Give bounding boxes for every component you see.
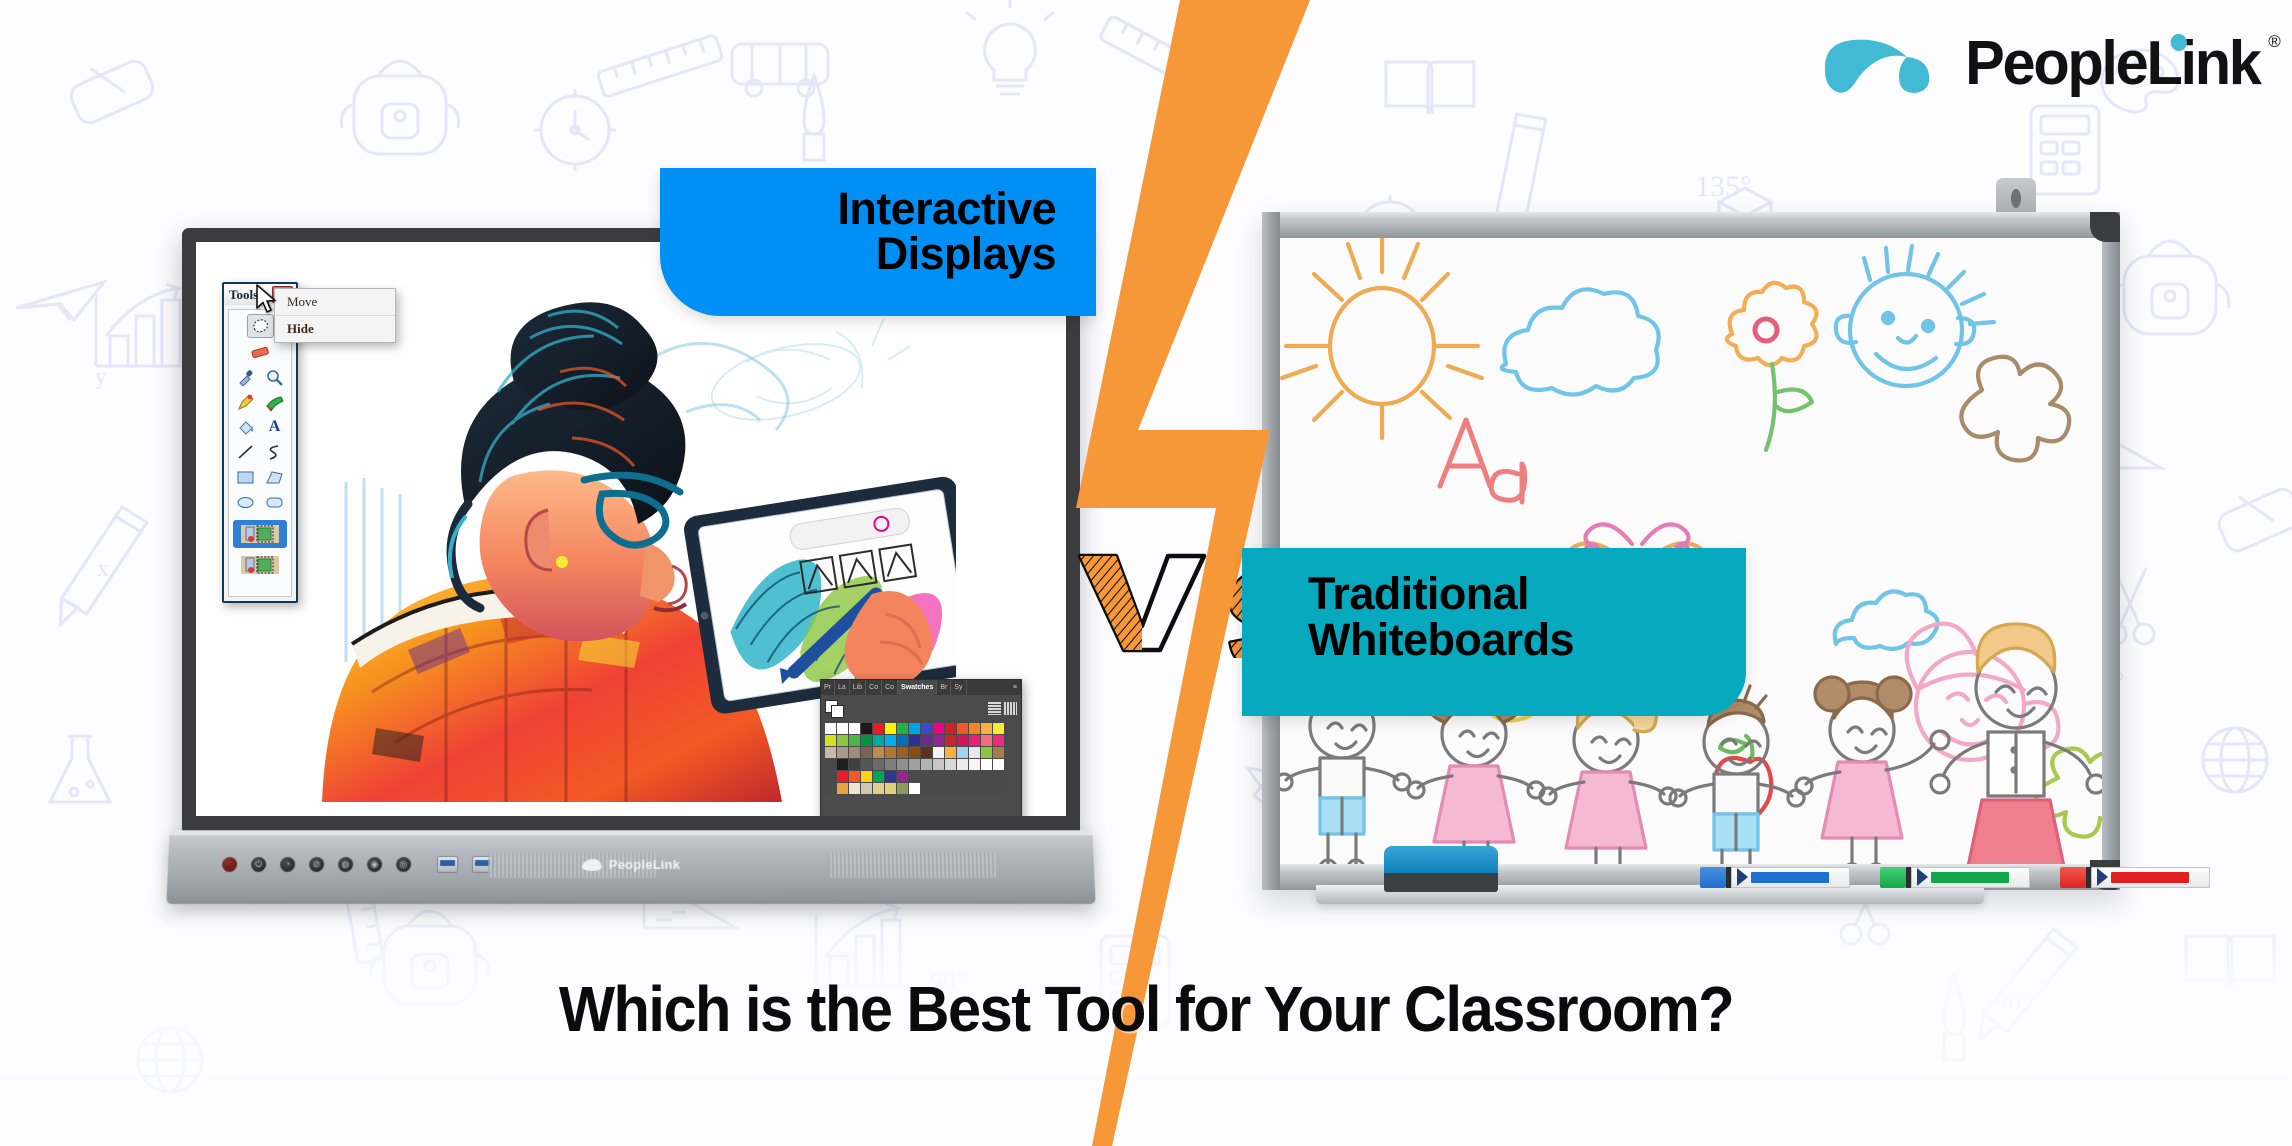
swatch-row xyxy=(825,723,1017,734)
color-swatch[interactable] xyxy=(945,747,956,758)
color-swatch[interactable] xyxy=(825,783,836,794)
color-swatch[interactable] xyxy=(933,759,944,770)
color-swatch[interactable] xyxy=(957,771,968,782)
tool-row xyxy=(229,466,291,488)
banner-line-2: Whiteboards xyxy=(1308,617,1746,663)
tool-row xyxy=(229,520,291,548)
tool-row xyxy=(229,491,291,513)
color-swatch[interactable] xyxy=(861,723,872,734)
display-screen[interactable]: Pr La Lib Co Co Swatches Br Sy ≡ xyxy=(196,242,1066,816)
doodle-cloud xyxy=(1502,289,1659,394)
color-swatch[interactable] xyxy=(969,723,980,734)
color-swatch[interactable] xyxy=(861,735,872,746)
tool-row xyxy=(229,341,291,363)
color-swatch[interactable] xyxy=(837,747,848,758)
display-control-bezel: ⏻ ◔ ⊘ ◍ ◉ ◎ PeopleLink xyxy=(166,830,1095,904)
color-swatch[interactable] xyxy=(837,735,848,746)
context-menu-item-hide[interactable]: Hide xyxy=(275,316,395,342)
color-swatch[interactable] xyxy=(945,723,956,734)
color-swatch[interactable] xyxy=(981,723,992,734)
tool-row: A xyxy=(229,416,291,438)
color-swatch[interactable] xyxy=(885,747,896,758)
bezel-highlight xyxy=(169,830,1092,835)
marker-barrel xyxy=(2091,867,2210,888)
list-view-icon[interactable] xyxy=(988,702,1001,715)
marker-nib-icon xyxy=(1917,868,1928,886)
marker-nib-icon xyxy=(2097,868,2108,886)
doodle-cloud xyxy=(1835,591,1938,648)
color-swatch[interactable] xyxy=(933,723,944,734)
marker-ink-band xyxy=(1931,872,2009,883)
svg-text:135°: 135° xyxy=(1695,170,1752,203)
bring-to-front-icon[interactable] xyxy=(233,520,287,548)
color-swatch[interactable] xyxy=(957,747,968,758)
color-swatch[interactable] xyxy=(933,747,944,758)
swatches-panel-tabs[interactable]: Pr La Lib Co Co Swatches Br Sy ≡ xyxy=(821,680,1021,695)
tool-row xyxy=(229,366,291,388)
color-swatch[interactable] xyxy=(885,735,896,746)
color-swatch[interactable] xyxy=(945,771,956,782)
banner-line-1: Traditional xyxy=(1308,571,1746,617)
color-swatch[interactable] xyxy=(825,735,836,746)
tools-context-menu[interactable]: Move Hide xyxy=(274,288,396,343)
color-swatch[interactable] xyxy=(849,747,860,758)
color-swatch[interactable] xyxy=(933,771,944,782)
swatch-row xyxy=(825,735,1017,746)
volume-down-button[interactable]: ◍ xyxy=(338,857,353,872)
eraser-icon[interactable] xyxy=(248,341,273,363)
color-swatch[interactable] xyxy=(861,747,872,758)
color-swatch[interactable] xyxy=(969,735,980,746)
color-swatch[interactable] xyxy=(873,771,884,782)
color-swatch[interactable] xyxy=(945,759,956,770)
tool-row xyxy=(229,551,291,579)
panel-tab-colorguide[interactable]: Co xyxy=(882,680,898,695)
color-swatch[interactable] xyxy=(885,723,896,734)
marker-cap xyxy=(1700,867,1726,888)
color-swatch[interactable] xyxy=(921,759,932,770)
color-swatch[interactable] xyxy=(897,747,908,758)
rectangle-icon[interactable] xyxy=(233,466,258,488)
color-swatch[interactable] xyxy=(897,735,908,746)
tool-row xyxy=(229,391,291,413)
peoplelink-swoosh-icon xyxy=(1819,31,1941,97)
color-swatch[interactable] xyxy=(849,735,860,746)
swatches-panel-toolbar xyxy=(821,695,1021,721)
tools-palette-body[interactable]: A xyxy=(228,309,292,597)
color-swatch[interactable] xyxy=(909,735,920,746)
right-speaker-grille xyxy=(828,852,997,878)
doodle-boy-face-blue xyxy=(1836,246,1994,386)
panel-tab-layers[interactable]: La xyxy=(835,680,850,695)
panel-tab-swatches[interactable]: Swatches xyxy=(898,680,937,695)
traditional-whiteboards-banner: Traditional Whiteboards xyxy=(1242,548,1746,716)
color-swatch[interactable] xyxy=(825,759,836,770)
color-swatch[interactable] xyxy=(969,783,980,794)
display-brand-logo: PeopleLink xyxy=(582,857,680,872)
panel-tab-properties[interactable]: Pr xyxy=(821,680,835,695)
svg-text:y: y xyxy=(95,364,107,390)
panel-tab-symbols[interactable]: Sy xyxy=(951,680,966,695)
text-tool-icon[interactable]: A xyxy=(262,416,287,438)
color-swatch[interactable] xyxy=(921,723,932,734)
color-swatch[interactable] xyxy=(825,723,836,734)
line-icon[interactable] xyxy=(233,441,258,463)
volume-up-button[interactable]: ◉ xyxy=(367,857,382,872)
color-swatch[interactable] xyxy=(873,735,884,746)
usb-port[interactable] xyxy=(437,856,458,873)
grid-view-icon[interactable] xyxy=(1004,702,1017,715)
color-swatch[interactable] xyxy=(885,771,896,782)
color-swatch[interactable] xyxy=(969,759,980,770)
color-swatch[interactable] xyxy=(909,759,920,770)
color-swatch[interactable] xyxy=(957,783,968,794)
lasso-select-icon[interactable] xyxy=(247,314,274,338)
color-swatch[interactable] xyxy=(873,723,884,734)
color-swatch[interactable] xyxy=(885,783,896,794)
color-swatch[interactable] xyxy=(993,771,1004,782)
mute-button[interactable]: ⊘ xyxy=(309,857,324,872)
color-swatch[interactable] xyxy=(897,771,908,782)
eraser-body xyxy=(1384,846,1498,874)
page-headline: Which is the Best Tool for Your Classroo… xyxy=(80,972,2212,1046)
color-swatch[interactable] xyxy=(993,759,1004,770)
color-swatch[interactable] xyxy=(921,783,932,794)
doodle-flower-brown xyxy=(1961,357,2069,461)
color-swatch[interactable] xyxy=(849,783,860,794)
color-swatch[interactable] xyxy=(837,723,848,734)
marker-nib-icon xyxy=(1737,868,1748,886)
whiteboard-top-rail xyxy=(1262,212,2120,238)
logo-i-dot xyxy=(2171,34,2187,51)
color-swatch[interactable] xyxy=(969,771,980,782)
interactive-display-device: Pr La Lib Co Co Swatches Br Sy ≡ xyxy=(182,228,1080,878)
paint-bucket-icon[interactable] xyxy=(233,416,258,438)
swatch-row xyxy=(825,771,1017,782)
color-swatch[interactable] xyxy=(957,723,968,734)
whiteboard-corner-cap xyxy=(2090,212,2120,242)
whiteboard-right-rail xyxy=(2102,212,2120,890)
marker-ink-band xyxy=(2111,872,2189,883)
color-swatch[interactable] xyxy=(993,723,1004,734)
send-to-back-icon[interactable] xyxy=(233,551,287,579)
tool-row xyxy=(229,441,291,463)
color-swatch[interactable] xyxy=(897,723,908,734)
doodle-flower-orange xyxy=(1727,283,1817,450)
color-swatch[interactable] xyxy=(837,759,848,770)
color-swatch[interactable] xyxy=(849,723,860,734)
interactive-displays-banner: Interactive Displays xyxy=(660,168,1096,316)
ellipse-icon[interactable] xyxy=(233,491,258,513)
color-swatch[interactable] xyxy=(909,783,920,794)
fill-stroke-indicator[interactable] xyxy=(825,700,843,716)
peoplelink-wordmark: PeopleLink ® xyxy=(1965,28,2259,99)
marker-barrel xyxy=(1911,867,2030,888)
tools-palette-title: Tools xyxy=(229,287,258,303)
color-swatch[interactable] xyxy=(993,783,1004,794)
swatch-row xyxy=(825,759,1017,770)
eraser-felt xyxy=(1384,873,1498,892)
color-swatch[interactable] xyxy=(873,747,884,758)
swatch-color-grid[interactable] xyxy=(821,721,1021,796)
color-swatch[interactable] xyxy=(897,759,908,770)
color-swatch[interactable] xyxy=(945,783,956,794)
menu-button[interactable]: ◎ xyxy=(396,857,411,872)
display-brand-name: PeopleLink xyxy=(609,857,680,872)
swatch-row xyxy=(825,747,1017,758)
color-swatch[interactable] xyxy=(921,735,932,746)
color-swatch[interactable] xyxy=(861,771,872,782)
swatch-view-toggles[interactable] xyxy=(988,702,1017,715)
color-swatch[interactable] xyxy=(825,747,836,758)
power-button[interactable]: ⏻ xyxy=(251,857,267,872)
brand-name: PeopleLink xyxy=(1965,29,2259,98)
peoplelink-mark-icon xyxy=(582,859,602,871)
color-swatch[interactable] xyxy=(957,735,968,746)
color-swatch[interactable] xyxy=(873,783,884,794)
color-swatch[interactable] xyxy=(981,747,992,758)
color-swatch[interactable] xyxy=(969,747,980,758)
color-swatch[interactable] xyxy=(945,735,956,746)
marker-cap xyxy=(2060,867,2086,888)
polygon-icon[interactable] xyxy=(262,466,287,488)
color-swatch[interactable] xyxy=(981,771,992,782)
mouse-cursor-icon xyxy=(255,284,279,316)
color-swatch[interactable] xyxy=(885,759,896,770)
blue-marker[interactable] xyxy=(1700,866,1850,888)
color-swatch[interactable] xyxy=(825,771,836,782)
bezel-button-row[interactable]: ⏻ ◔ ⊘ ◍ ◉ ◎ xyxy=(222,856,493,873)
color-swatch[interactable] xyxy=(849,771,860,782)
green-marker[interactable] xyxy=(1880,866,2030,888)
color-swatch[interactable] xyxy=(837,771,848,782)
traditional-whiteboards-banner-text: Traditional Whiteboards xyxy=(1242,548,1746,663)
svg-text:x: x xyxy=(97,556,109,582)
swatches-panel[interactable]: Pr La Lib Co Co Swatches Br Sy ≡ xyxy=(820,679,1022,816)
panel-tab-color[interactable]: Co xyxy=(866,680,882,695)
color-swatch[interactable] xyxy=(861,759,872,770)
color-swatch[interactable] xyxy=(921,771,932,782)
panel-tab-libraries[interactable]: Lib xyxy=(850,680,866,695)
magnifier-icon[interactable] xyxy=(262,366,287,388)
red-marker[interactable] xyxy=(2060,866,2210,888)
banner-line-2: Displays xyxy=(704,231,1056,276)
registered-mark: ® xyxy=(2269,32,2282,52)
color-swatch[interactable] xyxy=(981,783,992,794)
color-swatch[interactable] xyxy=(957,759,968,770)
color-swatch[interactable] xyxy=(921,747,932,758)
whiteboard-eraser[interactable] xyxy=(1384,846,1498,892)
marker-ink-band xyxy=(1751,872,1829,883)
rounded-rect-icon[interactable] xyxy=(262,491,287,513)
pencil-icon[interactable] xyxy=(233,391,258,413)
interactive-displays-banner-text: Interactive Displays xyxy=(660,168,1096,276)
color-swatch[interactable] xyxy=(861,783,872,794)
color-swatch[interactable] xyxy=(909,747,920,758)
panel-tab-brushes[interactable]: Br xyxy=(937,680,951,695)
color-swatch[interactable] xyxy=(981,735,992,746)
color-swatch[interactable] xyxy=(909,723,920,734)
poster-canvas: 135° 90° 90° 135° x y xyxy=(0,0,2292,1146)
color-swatch[interactable] xyxy=(933,735,944,746)
color-swatch[interactable] xyxy=(981,759,992,770)
context-menu-item-move[interactable]: Move xyxy=(275,289,395,316)
color-swatch[interactable] xyxy=(993,735,1004,746)
marker-barrel xyxy=(1731,867,1850,888)
color-swatch[interactable] xyxy=(933,783,944,794)
source-button[interactable]: ◔ xyxy=(280,857,295,872)
banner-line-1: Interactive xyxy=(704,186,1056,231)
curve-icon[interactable] xyxy=(262,441,287,463)
peoplelink-logo: PeopleLink ® xyxy=(1819,28,2266,99)
ir-sensor-icon xyxy=(222,857,238,872)
eyedropper-icon[interactable] xyxy=(233,366,258,388)
highlighter-icon[interactable] xyxy=(262,391,287,413)
color-swatch[interactable] xyxy=(837,783,848,794)
swatch-row xyxy=(825,783,1017,794)
color-swatch[interactable] xyxy=(873,759,884,770)
doodle-letter-Aa xyxy=(1440,420,1525,502)
color-swatch[interactable] xyxy=(993,747,1004,758)
color-swatch[interactable] xyxy=(849,759,860,770)
color-swatch[interactable] xyxy=(897,783,908,794)
marker-cap xyxy=(1880,867,1906,888)
color-swatch[interactable] xyxy=(909,771,920,782)
